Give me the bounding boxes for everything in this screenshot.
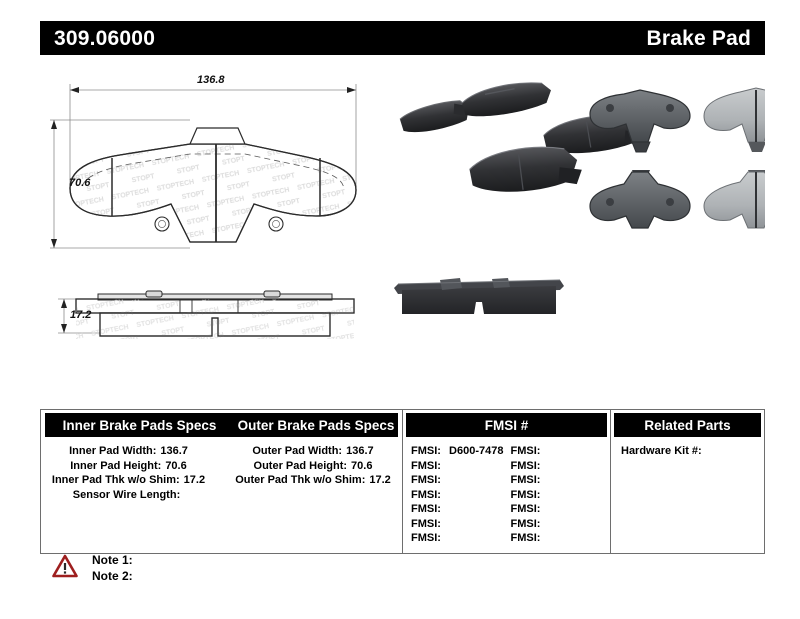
thickness-arrow-bottom xyxy=(61,324,67,333)
height-arrow-top xyxy=(51,120,57,129)
fmsi-row: FMSI: xyxy=(511,473,611,488)
fmsi-column-left: FMSI: D600-7478 FMSI: FMSI: FMSI: xyxy=(411,444,511,546)
fmsi-row: FMSI: xyxy=(511,517,611,532)
fmsi-row: FMSI: xyxy=(411,459,511,474)
product-type: Brake Pad xyxy=(646,28,751,49)
related-row: Hardware Kit #: xyxy=(611,444,764,459)
column-related-parts: Related Parts Hardware Kit #: xyxy=(610,410,764,553)
width-dimension-label: 136.8 xyxy=(197,74,225,86)
fmsi-row: FMSI: xyxy=(511,459,611,474)
warning-triangle-icon xyxy=(52,554,78,578)
part-number: 309.06000 xyxy=(54,28,155,49)
note-line-1: Note 1: xyxy=(92,552,133,568)
spec-row: Sensor Wire Length: xyxy=(41,488,234,503)
photos-svg xyxy=(388,70,765,390)
pad-side-view xyxy=(76,291,354,339)
fmsi-label: FMSI: xyxy=(511,532,541,544)
fmsi-row: FMSI: D600-7478 xyxy=(411,444,511,459)
column-outer-specs: Outer Brake Pads Specs Outer Pad Width: … xyxy=(234,410,402,553)
fmsi-label: FMSI: xyxy=(511,518,541,530)
photo-pad-edge xyxy=(394,278,564,314)
fmsi-label: FMSI: xyxy=(511,445,541,457)
body-related-parts: Hardware Kit #: xyxy=(611,440,764,553)
spec-row: Outer Pad Width: 136.7 xyxy=(234,444,402,459)
fmsi-label: FMSI: xyxy=(511,489,541,501)
spec-row: Outer Pad Thk w/o Shim: 17.2 xyxy=(234,473,402,488)
height-dimension-label: 70.6 xyxy=(69,177,90,189)
fmsi-row: FMSI: xyxy=(411,517,511,532)
fmsi-label: FMSI: xyxy=(411,460,441,472)
spec-row: Inner Pad Height: 70.6 xyxy=(41,459,234,474)
spec-value: 17.2 xyxy=(184,473,205,488)
column-inner-specs: Inner Brake Pads Specs Inner Pad Width: … xyxy=(41,410,234,553)
fmsi-value: D600-7478 xyxy=(449,445,503,457)
title-bar: 309.06000 Brake Pad xyxy=(40,21,765,55)
technical-drawing: STOPTECH STOPTECH xyxy=(40,70,385,390)
fmsi-label: FMSI: xyxy=(511,503,541,515)
fmsi-column-right: FMSI: FMSI: FMSI: FMSI: xyxy=(511,444,611,546)
header-fmsi: FMSI # xyxy=(406,413,607,437)
spec-label: Outer Pad Height: xyxy=(254,459,348,474)
product-photos xyxy=(388,70,765,390)
photo-pad-grid xyxy=(590,88,765,228)
body-fmsi: FMSI: D600-7478 FMSI: FMSI: FMSI: xyxy=(403,440,610,553)
drawing-svg: STOPTECH STOPTECH xyxy=(40,70,385,390)
height-arrow-bottom xyxy=(51,239,57,248)
fmsi-label: FMSI: xyxy=(511,460,541,472)
fmsi-row: FMSI: xyxy=(411,473,511,488)
spec-row: Inner Pad Width: 136.7 xyxy=(41,444,234,459)
width-arrow-right xyxy=(347,87,356,93)
spec-label: Inner Pad Height: xyxy=(70,459,161,474)
spec-label: Outer Pad Thk w/o Shim: xyxy=(235,473,365,488)
note-line-2: Note 2: xyxy=(92,568,133,584)
fmsi-label: FMSI: xyxy=(411,489,441,501)
spec-value: 70.6 xyxy=(165,459,186,474)
width-arrow-left xyxy=(70,87,79,93)
spec-label: Sensor Wire Length: xyxy=(73,488,180,503)
fmsi-row: FMSI: xyxy=(411,488,511,503)
specifications-table: Inner Brake Pads Specs Inner Pad Width: … xyxy=(40,409,765,554)
body-outer-specs: Outer Pad Width: 136.7 Outer Pad Height:… xyxy=(234,440,402,553)
fmsi-label: FMSI: xyxy=(511,474,541,486)
spec-value: 70.6 xyxy=(351,459,372,474)
fmsi-label: FMSI: xyxy=(411,532,441,544)
fmsi-label: FMSI: xyxy=(411,503,441,515)
spec-label: Inner Pad Thk w/o Shim: xyxy=(52,473,180,488)
fmsi-row: FMSI: xyxy=(511,488,611,503)
fmsi-row: FMSI: xyxy=(511,502,611,517)
fmsi-row: FMSI: xyxy=(511,531,611,546)
column-fmsi: FMSI # FMSI: D600-7478 FMSI: FMSI: xyxy=(402,410,610,553)
spec-value: 136.7 xyxy=(160,444,188,459)
header-outer-specs: Outer Brake Pads Specs xyxy=(234,413,398,437)
notes-text-block: Note 1: Note 2: xyxy=(92,552,133,584)
header-inner-specs: Inner Brake Pads Specs xyxy=(45,413,234,437)
header-related-parts: Related Parts xyxy=(614,413,761,437)
fmsi-label: FMSI: xyxy=(411,445,441,457)
spec-value: 136.7 xyxy=(346,444,374,459)
fmsi-label: FMSI: xyxy=(411,474,441,486)
fmsi-row: FMSI: xyxy=(411,531,511,546)
notes-section: Note 1: Note 2: xyxy=(52,552,133,584)
spec-label: Outer Pad Width: xyxy=(252,444,342,459)
body-inner-specs: Inner Pad Width: 136.7 Inner Pad Height:… xyxy=(41,440,234,553)
spec-row: Inner Pad Thk w/o Shim: 17.2 xyxy=(41,473,234,488)
spec-label: Inner Pad Width: xyxy=(69,444,156,459)
pad-front-view xyxy=(40,128,385,260)
thickness-dimension-label: 17.2 xyxy=(70,309,91,321)
thickness-arrow-top xyxy=(61,299,67,308)
fmsi-row: FMSI: xyxy=(411,502,511,517)
fmsi-label: FMSI: xyxy=(411,518,441,530)
spec-value: 17.2 xyxy=(369,473,390,488)
related-label: Hardware Kit #: xyxy=(621,445,702,457)
fmsi-row: FMSI: xyxy=(511,444,611,459)
spec-row: Outer Pad Height: 70.6 xyxy=(234,459,402,474)
